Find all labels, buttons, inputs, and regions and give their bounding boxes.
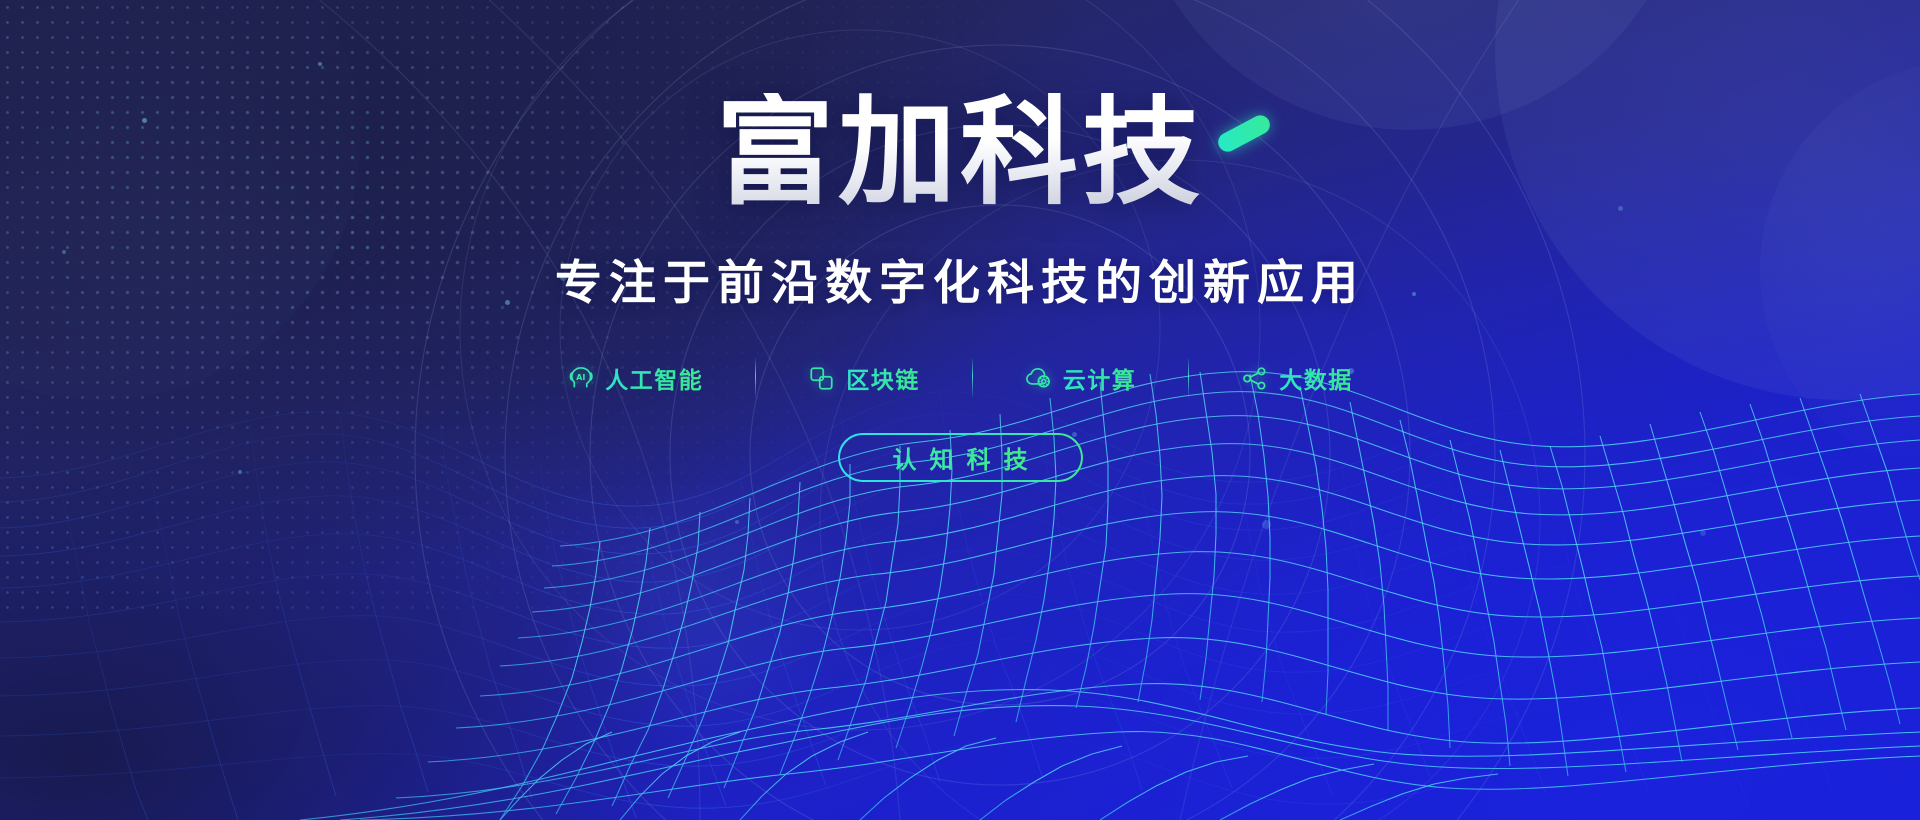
brand-logo: 富加科技 <box>716 88 1204 216</box>
feature-tag-label: 人工智能 <box>605 361 703 395</box>
cognitive-tech-button-label: 认知科技 <box>880 440 1041 475</box>
cloud-gear-icon <box>1025 365 1052 392</box>
blockchain-blocks-icon <box>808 365 835 392</box>
feature-tag-list: AI 人工智能 区块链 <box>515 357 1405 399</box>
feature-tag-blockchain[interactable]: 区块链 <box>756 358 972 398</box>
svg-text:AI: AI <box>576 372 585 382</box>
hero-content: 富加科技 专注于前沿数字化科技的创新应用 AI 人工智能 <box>0 0 1920 820</box>
hero-subtitle: 专注于前沿数字化科技的创新应用 <box>555 244 1365 313</box>
feature-tag-label: 大数据 <box>1279 361 1353 395</box>
feature-tag-label: 云计算 <box>1063 361 1137 395</box>
ai-head-icon: AI <box>567 365 594 392</box>
feature-tag-label: 区块链 <box>846 361 920 395</box>
feature-tag-cloud[interactable]: 云计算 <box>973 358 1189 398</box>
brand-logo-text: 富加科技 <box>716 93 1204 211</box>
brand-logo-accent-stroke <box>1215 112 1273 155</box>
feature-tag-bigdata[interactable]: 大数据 <box>1189 358 1405 398</box>
hero-banner: 富加科技 专注于前沿数字化科技的创新应用 AI 人工智能 <box>0 0 1920 820</box>
cta-row: 认知科技 <box>838 433 1083 482</box>
cognitive-tech-button[interactable]: 认知科技 <box>838 433 1083 482</box>
share-nodes-icon <box>1241 365 1268 392</box>
feature-tag-ai[interactable]: AI 人工智能 <box>515 358 755 398</box>
